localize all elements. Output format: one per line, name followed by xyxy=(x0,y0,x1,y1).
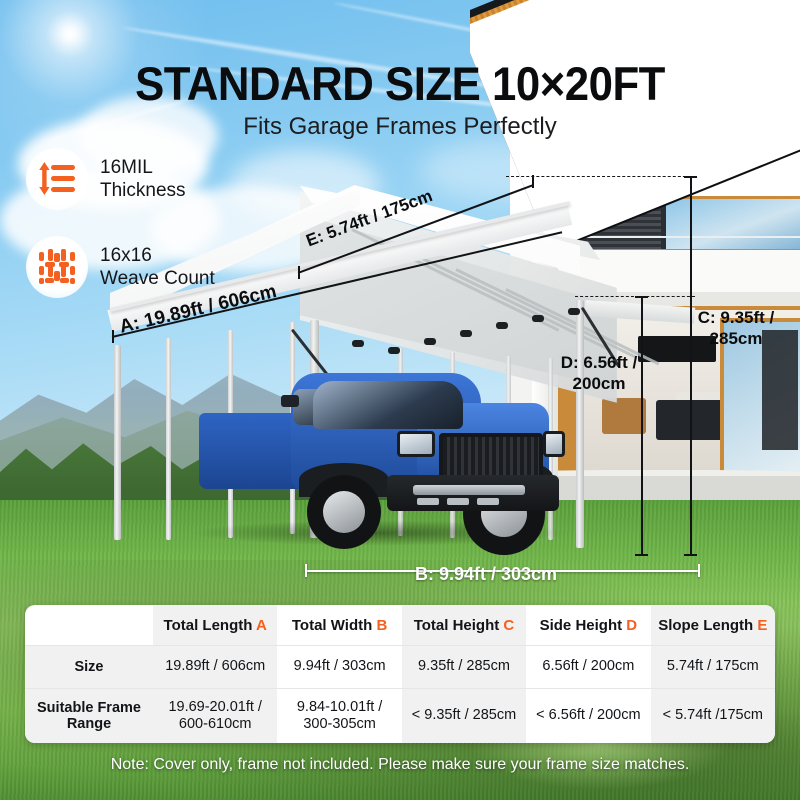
cell-range-a-line2: 600-610cm xyxy=(157,716,273,733)
feature-weave-line2: Weave Count xyxy=(100,267,215,290)
cell-range-b: 9.84-10.01ft / 300-305cm xyxy=(277,689,401,744)
dimension-label-d: D: 6.56ft / 200cm xyxy=(556,352,642,395)
cell-range-b-line1: 9.84-10.01ft / xyxy=(281,699,397,716)
feature-weave-line1: 16x16 xyxy=(100,244,215,267)
dimension-label-c-line2: 285cm xyxy=(688,328,784,349)
table-header-e: Slope Length E xyxy=(651,605,775,646)
feature-thickness-line2: Thickness xyxy=(100,179,186,202)
feature-weave: 16x16 Weave Count xyxy=(26,236,215,298)
dimension-cap-a-left xyxy=(112,330,114,343)
spec-table-head: Total Length A Total Width B Total Heigh… xyxy=(25,605,775,646)
table-header-d: Side Height D xyxy=(526,605,650,646)
table-row: Suitable Frame Range 19.69-20.01ft / 600… xyxy=(25,689,775,744)
cell-size-a: 19.89ft / 606cm xyxy=(153,646,277,689)
table-row: Size 19.89ft / 606cm 9.94ft / 303cm 9.35… xyxy=(25,646,775,689)
cell-range-a: 19.69-20.01ft / 600-610cm xyxy=(153,689,277,744)
header-label-d: Side Height xyxy=(540,617,627,634)
footer-note: Note: Cover only, frame not included. Pl… xyxy=(0,756,800,774)
header-label-e: Slope Length xyxy=(658,617,757,634)
dimension-label-d-line1: D: 6.56ft / xyxy=(556,352,642,373)
thickness-icon xyxy=(37,162,77,196)
dimension-cap-d-top xyxy=(635,296,648,298)
header-label-c: Total Height xyxy=(414,617,504,634)
dimension-cap-b-left xyxy=(305,564,307,577)
cell-range-b-line2: 300-305cm xyxy=(281,716,397,733)
dimension-label-c-line1: C: 9.35ft / xyxy=(688,307,784,328)
row-label-frame-range: Suitable Frame Range xyxy=(25,689,153,744)
header-key-e: E xyxy=(757,617,767,634)
dimension-label-d-line2: 200cm xyxy=(556,373,642,394)
guide-line-top xyxy=(506,176,696,177)
cell-range-d: < 6.56ft / 200cm xyxy=(526,689,650,744)
spec-table-body: Size 19.89ft / 606cm 9.94ft / 303cm 9.35… xyxy=(25,646,775,744)
page-subtitle: Fits Garage Frames Perfectly xyxy=(0,113,800,141)
table-header-a: Total Length A xyxy=(153,605,277,646)
pickup-truck xyxy=(195,355,555,540)
dimension-cap-c-top xyxy=(684,176,697,178)
row-label-frame-range-line2: Range xyxy=(29,716,149,732)
dimension-line-c xyxy=(690,176,692,554)
page-title: STANDARD SIZE 10×20FT xyxy=(28,56,772,111)
cell-range-a-line1: 19.69-20.01ft / xyxy=(157,699,273,716)
dimension-label-b: B: 9.94ft / 303cm xyxy=(415,564,557,585)
feature-thickness-text: 16MIL Thickness xyxy=(100,156,186,202)
feature-weave-text: 16x16 Weave Count xyxy=(100,244,215,290)
weave-badge xyxy=(26,236,88,298)
cell-size-d: 6.56ft / 200cm xyxy=(526,646,650,689)
dimension-cap-b-right xyxy=(698,564,700,577)
dimension-line-d xyxy=(641,296,643,554)
weave-icon xyxy=(37,247,77,287)
table-header-row: Total Length A Total Width B Total Heigh… xyxy=(25,605,775,646)
cell-range-e: < 5.74ft /175cm xyxy=(651,689,775,744)
header-key-b: B xyxy=(376,617,387,634)
row-label-frame-range-line1: Suitable Frame xyxy=(29,700,149,716)
table-header-c: Total Height C xyxy=(402,605,526,646)
cell-size-e: 5.74ft / 175cm xyxy=(651,646,775,689)
infographic-canvas: STANDARD SIZE 10×20FT Fits Garage Frames… xyxy=(0,0,800,800)
spec-table-container: Total Length A Total Width B Total Heigh… xyxy=(25,605,775,743)
cell-size-b: 9.94ft / 303cm xyxy=(277,646,401,689)
header-label-b: Total Width xyxy=(292,617,377,634)
row-label-size: Size xyxy=(25,646,153,689)
feature-thickness: 16MIL Thickness xyxy=(26,148,186,210)
spec-table: Total Length A Total Width B Total Heigh… xyxy=(25,605,775,743)
dimension-cap-d-bottom xyxy=(635,554,648,556)
dimension-cap-c-bottom xyxy=(684,554,697,556)
header-key-a: A xyxy=(256,617,267,634)
table-header-b: Total Width B xyxy=(277,605,401,646)
feature-thickness-line1: 16MIL xyxy=(100,156,186,179)
header-label-a: Total Length xyxy=(164,617,256,634)
cell-range-c: < 9.35ft / 285cm xyxy=(402,689,526,744)
thickness-badge xyxy=(26,148,88,210)
table-corner-cell xyxy=(25,605,153,646)
header-key-d: D xyxy=(626,617,637,634)
header-key-c: C xyxy=(503,617,514,634)
dimension-label-c: C: 9.35ft / 285cm xyxy=(688,307,784,350)
dimension-cap-e-bottom xyxy=(298,266,300,279)
cell-size-c: 9.35ft / 285cm xyxy=(402,646,526,689)
